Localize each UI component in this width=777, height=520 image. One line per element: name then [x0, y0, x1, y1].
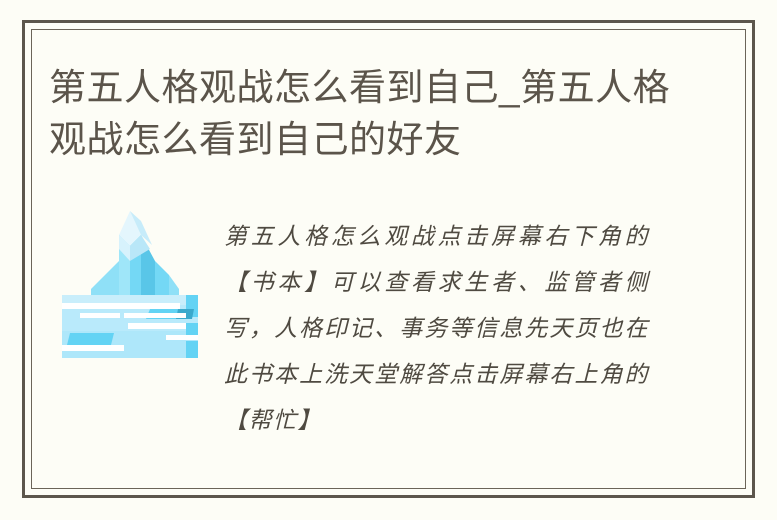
iceberg-shape [91, 211, 179, 301]
article-body-text: 第五人格怎么观战点击屏幕右下角的【书本】可以查看求生者、监管者侧写，人格印记、事… [224, 214, 649, 444]
iceberg-illustration [62, 205, 198, 358]
article-card: 第五人格观战怎么看到自己_第五人格观战怎么看到自己的好友 [0, 0, 777, 520]
page-title: 第五人格观战怎么看到自己_第五人格观战怎么看到自己的好友 [49, 62, 679, 166]
water-shape [62, 295, 198, 358]
